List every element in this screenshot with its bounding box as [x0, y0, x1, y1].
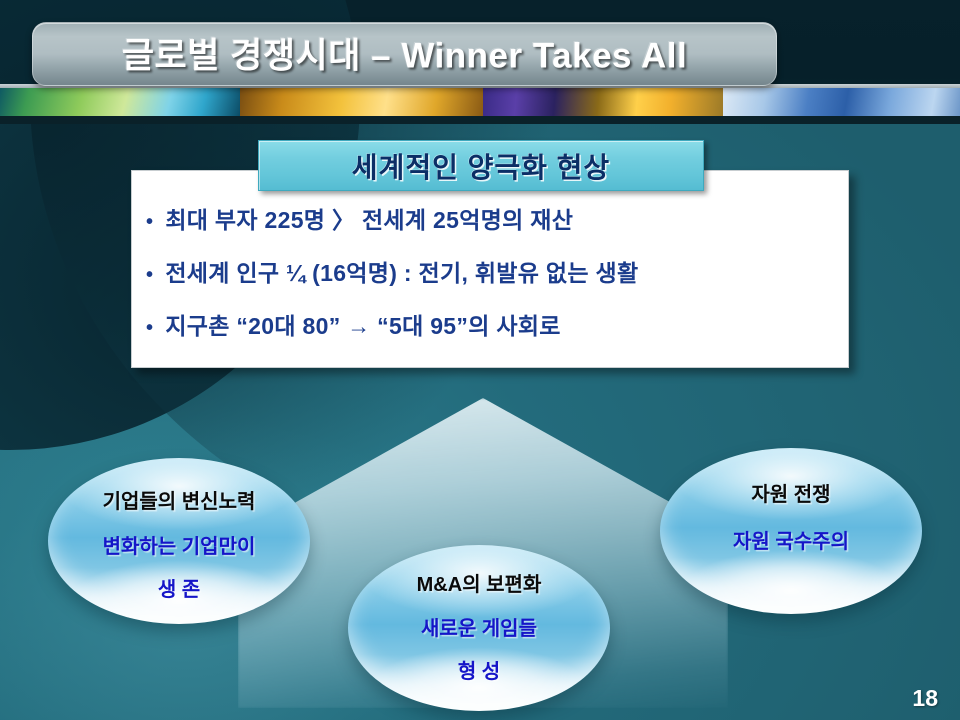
page-number: 18 — [912, 685, 938, 712]
bullet-marker-icon: • — [146, 265, 153, 285]
bullet-text: 지구촌 “20대 80” → “5대 95”의 사회로 — [165, 307, 560, 341]
bubble-left-line-3: 생 존 — [48, 573, 310, 602]
bullet-item: • 전세계 인구 ¼ (16억명) : 전기, 휘발유 없는 생활 — [132, 254, 848, 288]
bullet-marker-icon: • — [146, 318, 153, 338]
section-header-title: 세계적인 양극화 현상 — [352, 146, 610, 186]
bubble-right-line-1: 자원 전쟁 — [660, 478, 922, 507]
slide-title-bar: 글로벌 경쟁시대 – Winner Takes All — [32, 22, 777, 86]
bubble-center-line-1: M&A의 보편화 — [348, 568, 610, 597]
photo-strip-bottom-rule — [0, 116, 960, 124]
bullet-item: • 최대 부자 225명 〉 전세계 25억명의 재산 — [132, 201, 848, 235]
bullet-list: • 최대 부자 225명 〉 전세계 25억명의 재산 • 전세계 인구 ¼ (… — [132, 201, 848, 341]
bubble-right-line-2: 자원 국수주의 — [660, 525, 922, 554]
section-header-box: 세계적인 양극화 현상 — [258, 140, 704, 191]
photo-segment-green-blue — [0, 88, 240, 116]
photo-strip — [0, 88, 960, 116]
bullet-text: 최대 부자 225명 〉 전세계 25억명의 재산 — [165, 201, 573, 235]
bubble-left-line-1: 기업들의 변신노력 — [48, 485, 310, 514]
content-panel: • 최대 부자 225명 〉 전세계 25억명의 재산 • 전세계 인구 ¼ (… — [131, 170, 849, 368]
presentation-slide: 글로벌 경쟁시대 – Winner Takes All • 최대 부자 225명… — [0, 0, 960, 720]
bullet-text: 전세계 인구 ¼ (16억명) : 전기, 휘발유 없는 생활 — [165, 254, 638, 288]
slide-title: 글로벌 경쟁시대 – Winner Takes All — [33, 27, 776, 78]
bubble-center-line-3: 형 성 — [348, 655, 610, 684]
bullet-item: • 지구촌 “20대 80” → “5대 95”의 사회로 — [132, 307, 848, 341]
bubble-center-line-2: 새로운 게임들 — [348, 612, 610, 641]
photo-segment-gold — [240, 88, 483, 116]
bullet-marker-icon: • — [146, 212, 153, 232]
photo-segment-purple-gold — [483, 88, 723, 116]
bubble-left-line-2: 변화하는 기업만이 — [48, 530, 310, 559]
photo-segment-keyboard — [723, 88, 960, 116]
